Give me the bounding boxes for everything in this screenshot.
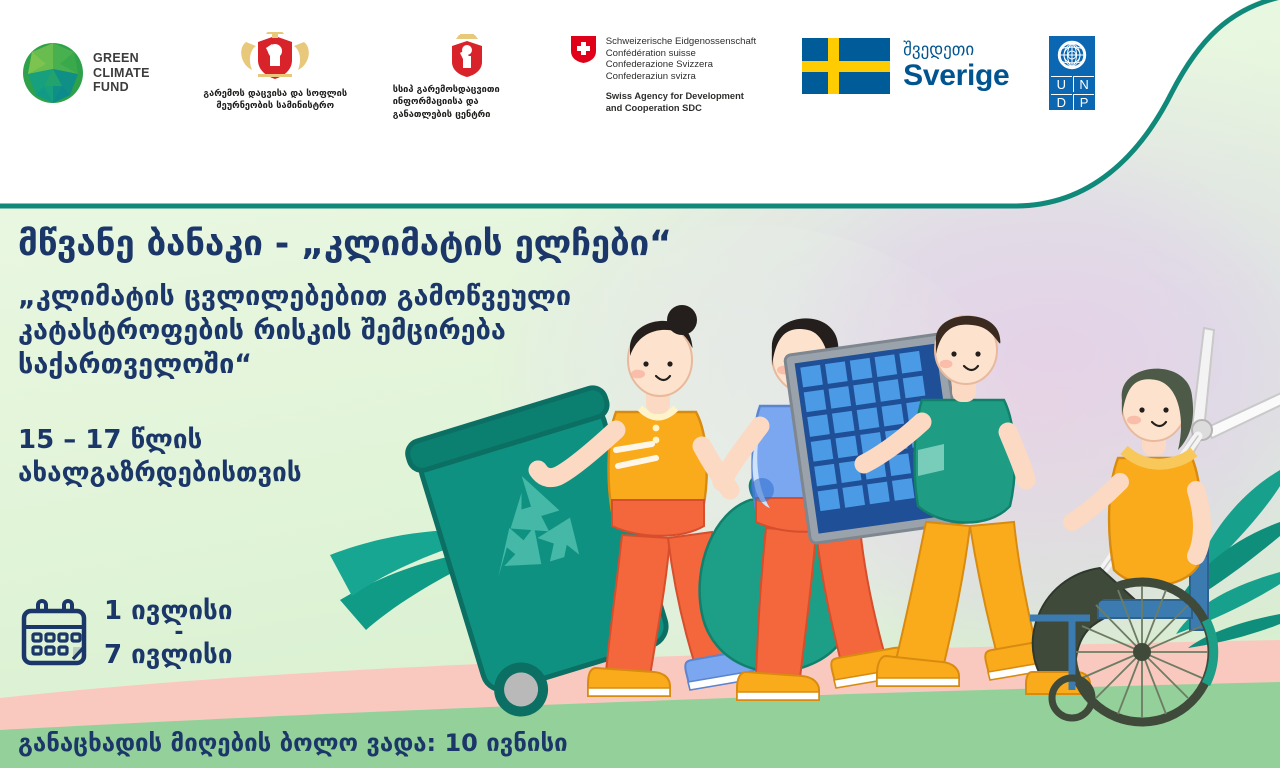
date-end: 7 ივლისი [104, 640, 254, 670]
shoe [877, 656, 959, 686]
teal-swoosh-divider [0, 0, 1280, 230]
shoe [588, 668, 670, 696]
subtitle-line-1: „კლიმატის ცვლილებებით გამოწვეული [18, 280, 678, 314]
poster-title: მწვანე ბანაკი - „კლიმატის ელჩები“ [18, 222, 718, 266]
camp-date-block: 1 ივლისი - 7 ივლისი [18, 596, 254, 670]
poster-canvas: GREEN CLIMATE FUND [0, 0, 1280, 768]
poster-subtitle: „კლიმატის ცვლილებებით გამოწვეული კატასტრ… [18, 280, 678, 382]
shoe [737, 672, 819, 700]
camp-dates: 1 ივლისი - 7 ივლისი [104, 596, 254, 670]
age-line-2: ახალგაზრდებისთვის [18, 457, 718, 490]
person-in-wheelchair-with-wind-turbine [1026, 369, 1214, 722]
subtitle-line-3: საქართველოში“ [18, 348, 678, 382]
age-line-1: 15 – 17 წლის [18, 424, 718, 457]
date-separator: - [104, 626, 254, 640]
age-requirement: 15 – 17 წლის ახალგაზრდებისთვის [18, 424, 718, 490]
poster-text-block: მწვანე ბანაკი - „კლიმატის ელჩები“ „კლიმა… [18, 222, 718, 490]
subtitle-line-2: კატასტროფების რისკის შემცირება [18, 314, 678, 348]
application-deadline: განაცხადის მიღების ბოლო ვადა: 10 ივნისი [18, 728, 568, 758]
calendar-icon [18, 597, 90, 669]
